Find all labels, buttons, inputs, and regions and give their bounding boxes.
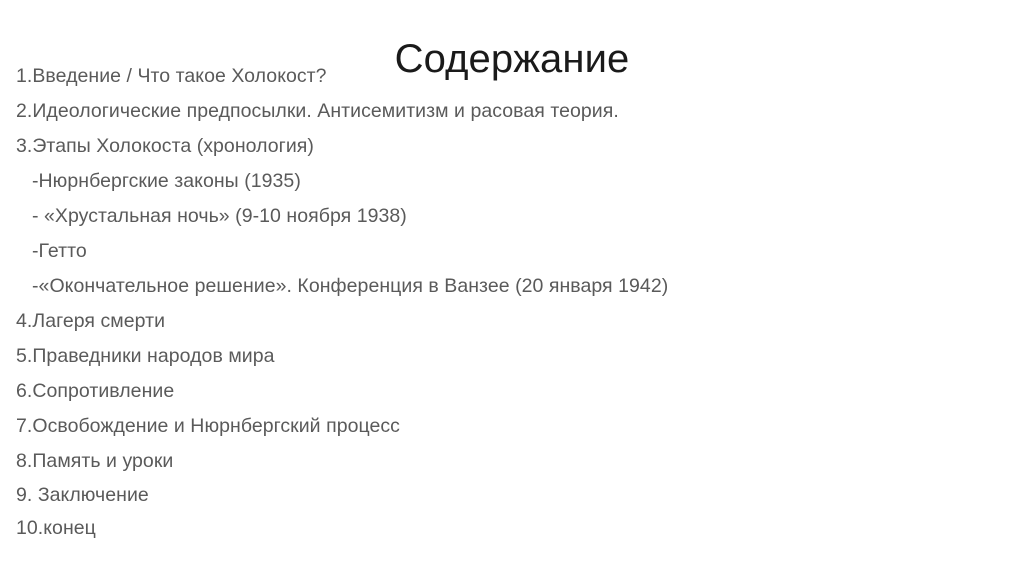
- list-item: 1.Введение / Что такое Холокост?: [16, 59, 1008, 94]
- list-item: 4.Лагеря смерти: [16, 304, 1008, 339]
- slide-canvas: Содержание 1.Введение / Что такое Холоко…: [0, 0, 1024, 574]
- list-item: 7.Освобождение и Нюрнбергский процесс: [16, 409, 1008, 444]
- list-item: -Гетто: [16, 234, 1008, 269]
- list-item: -«Окончательное решение». Конференция в …: [16, 269, 1008, 304]
- table-of-contents-list: 1.Введение / Что такое Холокост? 2.Идеол…: [16, 59, 1008, 545]
- list-item: 6.Сопротивление: [16, 374, 1008, 409]
- list-item: - «Хрустальная ночь» (9-10 ноября 1938): [16, 199, 1008, 234]
- list-item: 3.Этапы Холокоста (хронология): [16, 129, 1008, 164]
- list-item: 8.Память и уроки: [16, 444, 1008, 479]
- list-item: 9. Заключение: [16, 479, 1008, 512]
- list-item: 10.конец: [16, 512, 1008, 545]
- list-item: 2.Идеологические предпосылки. Антисемити…: [16, 94, 1008, 129]
- list-item: -Нюрнбергские законы (1935): [16, 164, 1008, 199]
- list-item: 5.Праведники народов мира: [16, 339, 1008, 374]
